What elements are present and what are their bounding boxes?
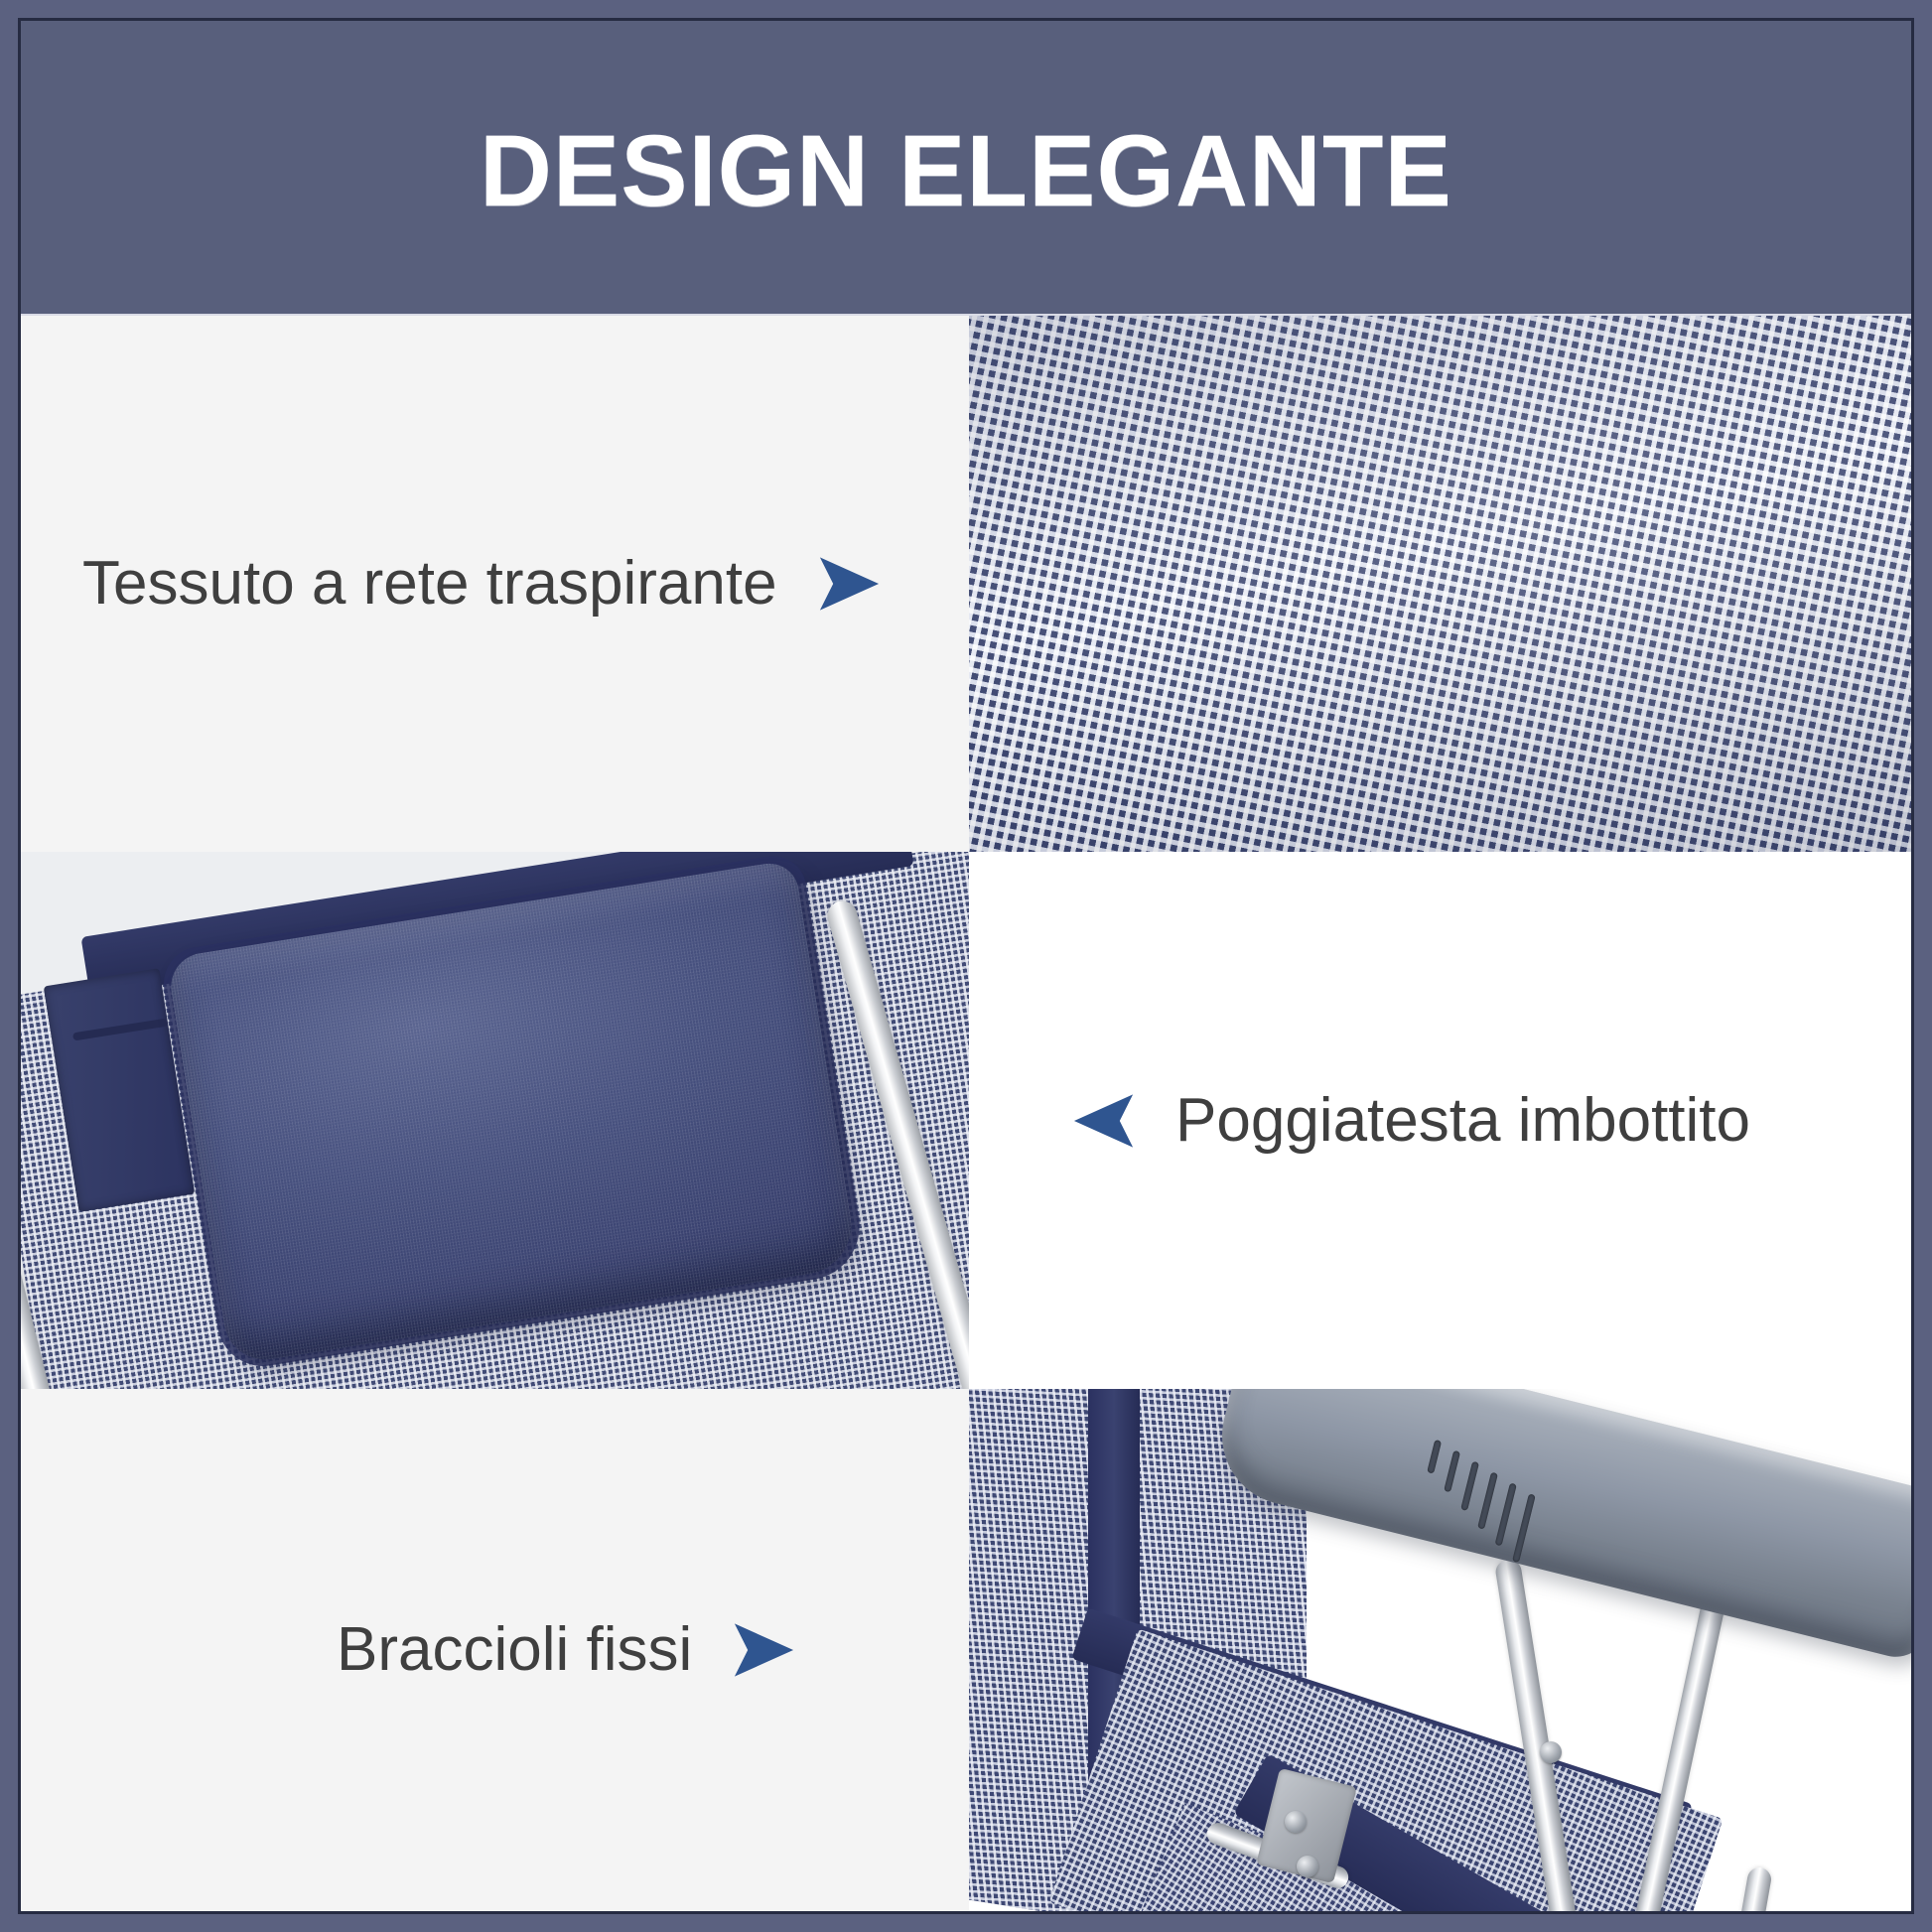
mesh-fabric-texture [969, 316, 1911, 852]
caption-padded-headrest: Poggiatesta imbottito [1068, 1084, 1750, 1158]
header-band: DESIGN ELEGANTE [21, 21, 1911, 316]
armrest-bolt [1540, 1741, 1562, 1763]
vent-slot [1495, 1483, 1517, 1547]
photo-panel-padded-headrest-closeup [21, 852, 969, 1389]
armrest-photo [969, 1389, 1911, 1911]
photo-panel-fixed-armrest-closeup [969, 1389, 1911, 1911]
feature-label-breathable-mesh: Tessuto a rete traspirante [82, 553, 777, 615]
hinge-bolt [1297, 1856, 1318, 1877]
feature-grid: Tessuto a rete traspirante [21, 316, 1911, 1911]
hinge-bolt [1285, 1811, 1307, 1833]
vent-slot [1444, 1450, 1460, 1492]
photo-panel-mesh-fabric-closeup [969, 316, 1911, 852]
page-title: DESIGN ELEGANTE [480, 120, 1452, 221]
vent-slot [1460, 1461, 1479, 1511]
caption-panel-breathable-mesh: Tessuto a rete traspirante [21, 316, 969, 852]
vent-slot [1477, 1472, 1498, 1530]
feature-row-padded-headrest: Poggiatesta imbottito [21, 852, 1911, 1389]
right-arrow-icon [726, 1613, 799, 1687]
poster-inner-frame: DESIGN ELEGANTE Tessuto a rete traspiran… [18, 18, 1914, 1914]
feature-label-padded-headrest: Poggiatesta imbottito [1175, 1090, 1750, 1152]
frame-tube-lower [1698, 1865, 1773, 1911]
caption-fixed-armrests: Braccioli fissi [337, 1613, 799, 1687]
poster-root: DESIGN ELEGANTE Tessuto a rete traspiran… [0, 0, 1932, 1932]
caption-breathable-mesh: Tessuto a rete traspirante [82, 547, 885, 621]
feature-row-breathable-mesh: Tessuto a rete traspirante [21, 316, 1911, 852]
right-arrow-icon [811, 547, 885, 621]
caption-panel-fixed-armrests: Braccioli fissi [21, 1389, 969, 1911]
caption-panel-padded-headrest: Poggiatesta imbottito [969, 852, 1911, 1389]
feature-label-fixed-armrests: Braccioli fissi [337, 1619, 692, 1681]
left-arrow-icon [1068, 1084, 1142, 1158]
headrest-photo [21, 852, 969, 1389]
vent-slot [1512, 1493, 1536, 1563]
feature-row-fixed-armrests: Braccioli fissi [21, 1389, 1911, 1911]
